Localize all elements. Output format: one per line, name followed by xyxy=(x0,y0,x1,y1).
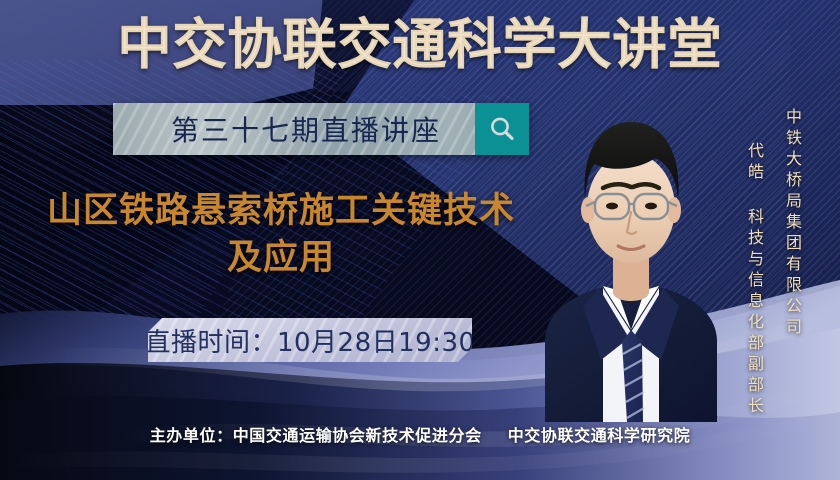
livestream-poster: 中交协联交通科学大讲堂 第三十七期直播讲座 山区铁路悬索桥施工关键技术 及应用 … xyxy=(0,0,840,480)
organizer-primary: 主办单位：中国交通运输协会新技术促进分会 xyxy=(150,426,482,445)
speaker-organization: 中铁大桥局集团有限公司 xyxy=(780,108,804,418)
lecture-title-line2: 及应用 xyxy=(26,235,536,282)
speaker-name-and-role: 代皓 科技与信息化部副部长 xyxy=(742,108,766,418)
livestream-time-badge: 直播时间：10月28日19:30 xyxy=(148,318,472,362)
lecture-title: 山区铁路悬索桥施工关键技术 及应用 xyxy=(26,188,536,282)
speaker-info: 代皓 科技与信息化部副部长 中铁大桥局集团有限公司 xyxy=(742,108,804,418)
lecture-title-line1: 山区铁路悬索桥施工关键技术 xyxy=(47,191,515,231)
episode-banner: 第三十七期直播讲座 xyxy=(113,103,529,155)
organizer-footer: 主办单位：中国交通运输协会新技术促进分会中交协联交通科学研究院 xyxy=(0,422,840,446)
search-icon-button[interactable] xyxy=(475,103,529,155)
search-icon xyxy=(487,114,517,144)
livestream-time-label: 直播时间：10月28日19:30 xyxy=(144,322,475,359)
page-title: 中交协联交通科学大讲堂 xyxy=(0,14,840,76)
organizer-secondary: 中交协联交通科学研究院 xyxy=(508,426,691,445)
episode-label: 第三十七期直播讲座 xyxy=(113,109,475,149)
speaker-portrait xyxy=(543,92,719,422)
